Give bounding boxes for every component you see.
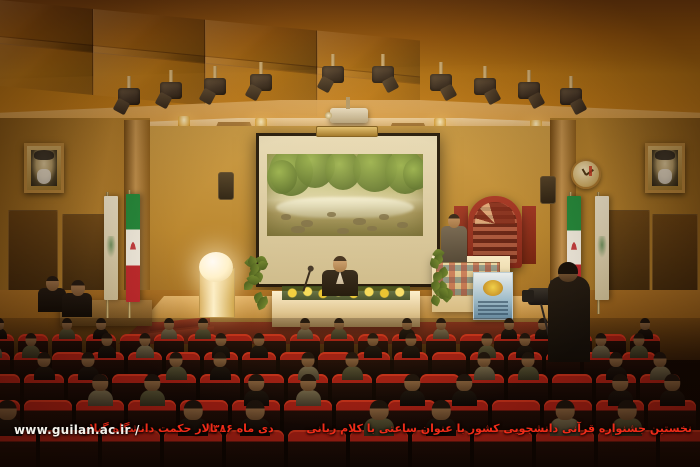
projected-rock xyxy=(281,214,291,220)
audience-member xyxy=(364,333,382,356)
portrait-turban xyxy=(655,150,674,160)
audience-member xyxy=(0,400,22,434)
audience-head xyxy=(144,374,160,391)
audience-head xyxy=(334,318,344,330)
audience-head xyxy=(246,400,265,420)
institutional-banner-right xyxy=(595,196,609,300)
audience-shoulders xyxy=(660,390,685,407)
projector-lens-icon xyxy=(325,112,332,119)
audience-member xyxy=(178,400,208,434)
audience-head xyxy=(612,374,628,391)
stage-spotlight xyxy=(322,54,344,92)
seat-row xyxy=(0,430,700,467)
audience-shoulders xyxy=(178,418,208,437)
audience-member xyxy=(59,318,75,338)
audience-head xyxy=(101,333,112,346)
audience-head xyxy=(300,374,316,391)
audience-shoulders xyxy=(364,418,394,437)
audience-head xyxy=(62,318,72,330)
official-head xyxy=(71,280,85,296)
audience-member xyxy=(501,318,517,338)
audience-shoulders xyxy=(98,345,116,358)
portrait-beard xyxy=(658,169,673,184)
poster-text-lines xyxy=(478,300,508,315)
audience-member xyxy=(364,400,394,434)
audience-head xyxy=(609,352,622,367)
official-head xyxy=(46,276,59,291)
globe-lamp-icon xyxy=(199,252,233,282)
seated-official xyxy=(62,280,92,314)
theater-seat[interactable] xyxy=(288,430,346,467)
audience-member xyxy=(402,333,420,356)
audience-head xyxy=(653,352,666,367)
theater-seat[interactable] xyxy=(102,430,160,467)
projected-tree xyxy=(267,160,297,194)
audience-shoulders xyxy=(166,366,187,380)
cameraman-head xyxy=(558,262,578,282)
audience-head xyxy=(405,333,416,346)
audience-member xyxy=(426,400,456,434)
projected-rock xyxy=(379,214,389,220)
audience-head xyxy=(37,352,50,367)
potted-plant-right xyxy=(428,246,448,306)
audience-member xyxy=(660,374,685,404)
audience-head xyxy=(169,352,182,367)
audience-head xyxy=(404,374,420,391)
audience-member xyxy=(0,333,2,356)
audience-head xyxy=(556,400,575,420)
audience-head xyxy=(367,333,378,346)
audience-head xyxy=(432,400,451,420)
projected-tree xyxy=(403,158,423,190)
audience-head xyxy=(477,352,490,367)
official-body xyxy=(62,293,92,317)
audience-shoulders xyxy=(630,345,648,358)
audience-head xyxy=(402,318,412,330)
audience-shoulders xyxy=(518,366,539,380)
audience-shoulders xyxy=(195,328,211,339)
audience-head xyxy=(640,318,650,330)
audience-head xyxy=(215,333,226,346)
stage-spotlight xyxy=(518,70,540,108)
audience-member xyxy=(342,352,363,378)
audience-shoulders xyxy=(342,366,363,380)
audience-head xyxy=(253,333,264,346)
projected-rock xyxy=(291,226,305,233)
audience-member xyxy=(88,374,113,404)
audience-member xyxy=(166,352,187,378)
audience-head xyxy=(213,352,226,367)
audience-head xyxy=(300,318,310,330)
plant-leaf xyxy=(439,288,449,298)
audience-shoulders xyxy=(161,328,177,339)
ceiling-projector xyxy=(330,108,368,123)
audience-shoulders xyxy=(474,366,495,380)
audience-head xyxy=(664,374,680,391)
stage-spotlight xyxy=(372,54,394,92)
audience-head xyxy=(96,318,106,330)
camera-lens-hood-icon xyxy=(522,290,534,302)
stage-spotlight xyxy=(560,76,582,114)
audience-member xyxy=(136,333,154,356)
wall-panel-right xyxy=(652,214,698,298)
audience-member xyxy=(400,374,425,404)
portrait-turban xyxy=(34,150,53,160)
audience-shoulders xyxy=(501,328,517,339)
audience-head xyxy=(456,374,472,391)
audience-shoulders xyxy=(297,328,313,339)
audience-head xyxy=(92,374,108,391)
audience-head xyxy=(248,374,264,391)
wall-clock-icon xyxy=(571,159,601,189)
audience-shoulders xyxy=(250,345,268,358)
festival-poster xyxy=(473,272,513,320)
projected-river xyxy=(276,197,413,218)
iran-flag-left xyxy=(126,194,140,302)
arch-side-panel-right xyxy=(522,206,536,264)
audience-member xyxy=(612,400,642,434)
wall-speaker xyxy=(218,172,234,200)
audience-member xyxy=(331,318,347,338)
audience-member xyxy=(250,333,268,356)
projector-mount xyxy=(346,97,350,109)
cameraman xyxy=(548,276,590,362)
audience-member xyxy=(140,374,165,404)
audience-head xyxy=(0,318,4,330)
audience-head xyxy=(481,333,492,346)
audience-shoulders xyxy=(59,328,75,339)
audience-member xyxy=(297,318,313,338)
stage-spotlight xyxy=(160,70,182,108)
audience-member xyxy=(296,374,321,404)
audience-shoulders xyxy=(364,345,382,358)
presenter-head xyxy=(448,214,460,228)
audience-member xyxy=(474,352,495,378)
audience-shoulders xyxy=(136,345,154,358)
audience-member xyxy=(98,333,116,356)
stage-spotlight xyxy=(250,62,272,100)
framed-portrait-right xyxy=(645,143,685,193)
theater-seat[interactable] xyxy=(660,430,700,467)
wall-speaker xyxy=(540,176,556,204)
audience-head xyxy=(301,352,314,367)
audience-head xyxy=(164,318,174,330)
audience-head xyxy=(25,333,36,346)
audience-member xyxy=(433,318,449,338)
clock-accent xyxy=(589,166,592,176)
projected-rock xyxy=(397,222,408,228)
audience-shoulders xyxy=(612,418,642,437)
stage-spotlight xyxy=(118,76,140,114)
audience-member xyxy=(630,333,648,356)
theater-seat[interactable] xyxy=(474,430,532,467)
potted-plant-left xyxy=(244,248,264,306)
projected-rock xyxy=(327,212,336,217)
seated-speaker xyxy=(322,256,358,296)
audience-head xyxy=(595,333,606,346)
audience-head xyxy=(198,318,208,330)
audience-shoulders xyxy=(34,366,55,380)
audience-member xyxy=(240,400,270,434)
speaker-head xyxy=(333,256,347,272)
projected-nature-image xyxy=(267,154,423,236)
screen-uplight xyxy=(316,126,378,137)
audience-head xyxy=(618,400,637,420)
stage-spotlight xyxy=(204,66,226,104)
institutional-banner-left xyxy=(104,196,118,300)
audience-head xyxy=(370,400,389,420)
audience-head xyxy=(436,318,446,330)
projected-rock xyxy=(353,218,366,225)
audience-member xyxy=(550,400,580,434)
audience-head xyxy=(184,400,203,420)
audience-shoulders xyxy=(240,418,270,437)
auditorium-photo: نخستین جشنواره قرآنی دانشجویی کشور با عن… xyxy=(0,0,700,467)
audience-shoulders xyxy=(400,390,425,407)
projected-rock xyxy=(337,228,349,234)
audience-head xyxy=(633,333,644,346)
stage-spotlight xyxy=(430,62,452,100)
audience-shoulders xyxy=(0,345,2,358)
audience-member xyxy=(195,318,211,338)
projected-rock xyxy=(367,226,377,231)
audience-member xyxy=(161,318,177,338)
audience-member xyxy=(34,352,55,378)
audience-member xyxy=(210,352,231,378)
audience-head xyxy=(345,352,358,367)
audience-head xyxy=(0,400,16,420)
audience-head xyxy=(81,352,94,367)
theater-seat[interactable] xyxy=(40,430,98,467)
framed-portrait-left xyxy=(24,143,64,193)
audience-shoulders xyxy=(331,328,347,339)
audience-shoulders xyxy=(88,390,113,407)
audience-shoulders xyxy=(550,418,580,437)
audience-shoulders xyxy=(433,328,449,339)
audience-head xyxy=(139,333,150,346)
audience-shoulders xyxy=(210,366,231,380)
audience-shoulders xyxy=(426,418,456,437)
poster-emblem-icon xyxy=(483,280,503,296)
audience-shoulders xyxy=(140,390,165,407)
audience-head xyxy=(504,318,514,330)
audience-shoulders xyxy=(296,390,321,407)
audience-shoulders xyxy=(0,418,22,437)
audience-shoulders xyxy=(402,345,420,358)
stage-spotlight xyxy=(474,66,496,104)
portrait-beard xyxy=(37,169,52,184)
